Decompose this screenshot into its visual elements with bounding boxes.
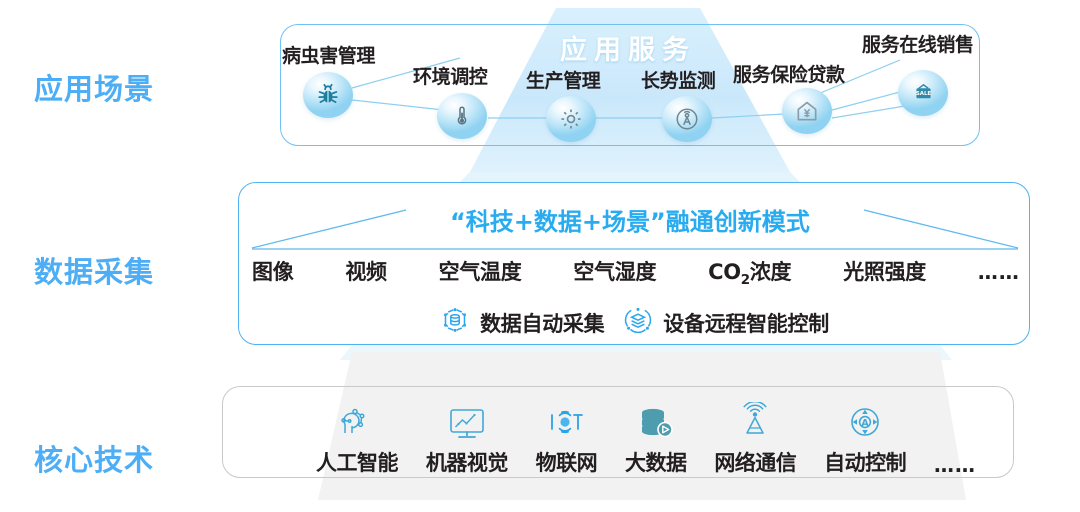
hex-database-icon [439, 304, 471, 341]
app-node-label: 病虫害管理 [282, 41, 375, 68]
monitor-chart-icon [445, 396, 489, 444]
tech-item-label: 大数据 [625, 447, 687, 477]
tech-item-machine-vision[interactable]: 机器视觉 [426, 396, 508, 477]
data-mode-auto-collection: 数据自动采集 [439, 304, 604, 341]
tech-item-label: 物联网 [536, 447, 598, 477]
tech-item-label: 机器视觉 [426, 447, 508, 477]
section-label-application: 应用场景 [34, 66, 154, 108]
app-node-label: 长势监测 [641, 66, 715, 93]
svg-text:A: A [861, 418, 869, 429]
data-item-co2: CO2浓度 [708, 256, 791, 288]
tech-item-ellipsis: …… [934, 402, 976, 477]
iot-icon [544, 396, 588, 444]
app-node-label: 服务保险贷款 [733, 60, 845, 87]
tech-item-big-data[interactable]: 大数据 [625, 396, 687, 477]
funnel-title: 应用服务 [560, 28, 696, 67]
database-stack-icon [634, 396, 678, 444]
data-mode-label: 数据自动采集 [480, 308, 604, 338]
section-label-data: 数据采集 [34, 249, 154, 291]
app-node-label: 环境调控 [413, 62, 487, 89]
tech-item-label: 网络通信 [714, 447, 796, 477]
technology-item-list: 人工智能 机器视觉 [316, 396, 976, 477]
sale-tag-icon: SALE [898, 70, 948, 116]
tech-item-label: …… [934, 453, 976, 477]
data-mode-label: 设备远程智能控制 [663, 308, 829, 338]
tech-item-automatic-control[interactable]: A 自动控制 [824, 396, 906, 477]
auto-control-icon: A [843, 396, 887, 444]
thermometer-icon [437, 93, 487, 139]
data-item: 空气湿度 [573, 256, 656, 286]
tech-item-iot[interactable]: 物联网 [536, 396, 598, 477]
svg-text:SALE: SALE [915, 91, 931, 97]
ai-head-icon [336, 396, 378, 444]
signal-tower-icon [662, 96, 712, 142]
tech-item-network-communication[interactable]: 网络通信 [714, 396, 796, 477]
data-item: 图像 [252, 256, 293, 286]
tech-item-artificial-intelligence[interactable]: 人工智能 [316, 396, 398, 477]
data-mode-remote-control: 设备远程智能控制 [622, 304, 829, 341]
app-node-label: 服务在线销售 [862, 30, 974, 57]
data-item-ellipsis: …… [978, 260, 1020, 284]
tech-item-label: 自动控制 [824, 447, 906, 477]
data-item: 空气温度 [439, 256, 522, 286]
infographic-diagram: 应用场景 数据采集 核心技术 应用服务 病虫害管理 [0, 0, 1080, 512]
app-node-label: 生产管理 [526, 66, 600, 93]
data-item: 光照强度 [843, 256, 926, 286]
section-label-technology: 核心技术 [34, 437, 154, 479]
circle-layers-icon [622, 304, 654, 341]
tech-item-label: 人工智能 [316, 447, 398, 477]
data-headline: “科技+数据+场景”融通创新模式 [450, 202, 810, 237]
data-item-list: 图像 视频 空气温度 空气湿度 CO2浓度 光照强度 …… [252, 256, 1020, 288]
antenna-signal-icon [732, 396, 778, 444]
bug-icon [303, 72, 353, 118]
data-mode-list: 数据自动采集 设备远程智能控制 [238, 304, 1030, 341]
gear-icon [546, 96, 596, 142]
yuan-house-icon [782, 88, 832, 134]
data-item: 视频 [345, 256, 386, 286]
